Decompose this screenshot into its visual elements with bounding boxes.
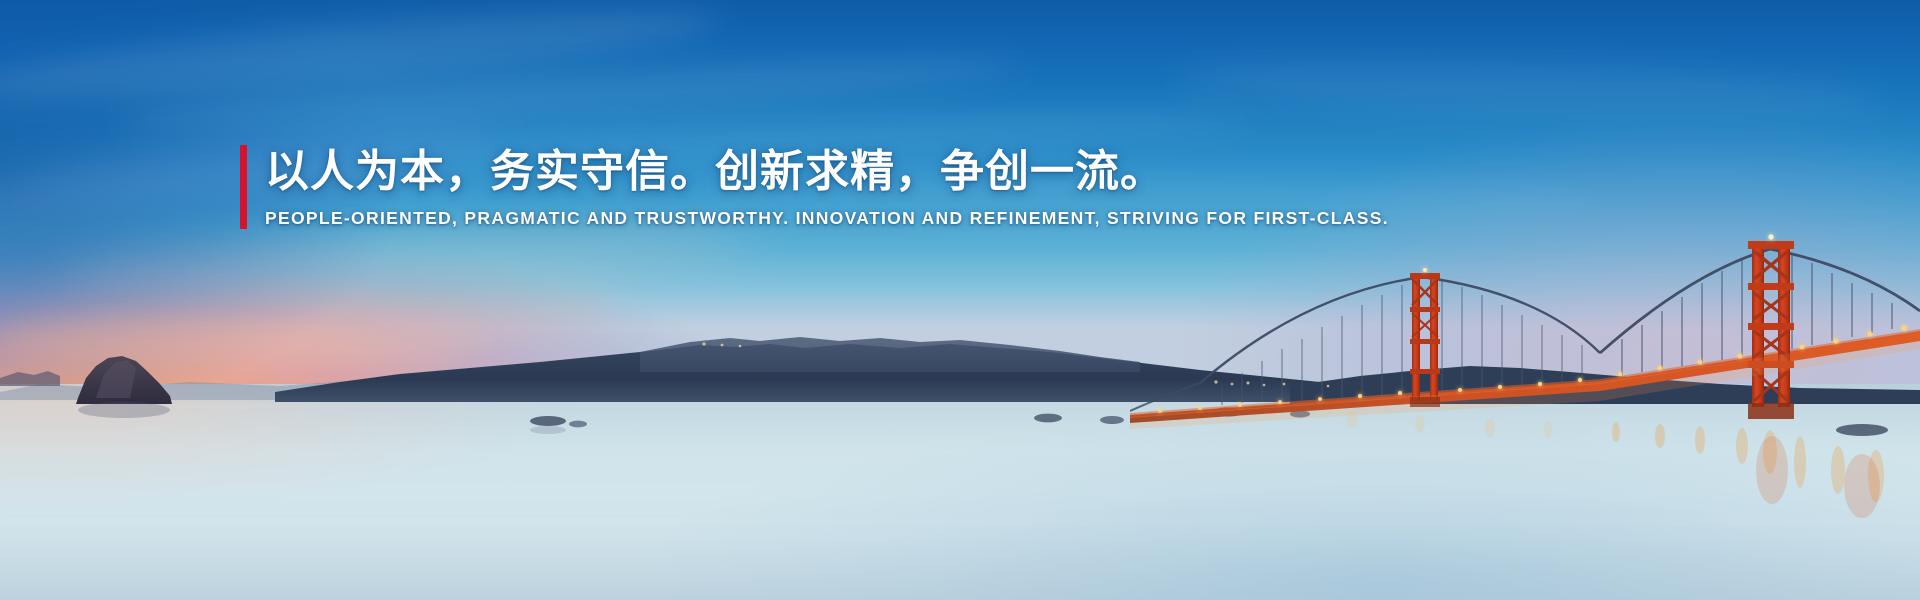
hero-banner: 以人为本，务实守信。创新求精，争创一流。 PEOPLE-ORIENTED, PR…: [0, 0, 1920, 600]
red-accent-bar: [240, 145, 247, 229]
page-title: 以人为本，务实守信。创新求精，争创一流。: [265, 145, 1389, 199]
banner-text-block: 以人为本，务实守信。创新求精，争创一流。 PEOPLE-ORIENTED, PR…: [240, 145, 1389, 229]
page-subtitle: PEOPLE-ORIENTED, PRAGMATIC AND TRUSTWORT…: [265, 208, 1389, 229]
bridge-water-reflection: [0, 0, 1920, 600]
